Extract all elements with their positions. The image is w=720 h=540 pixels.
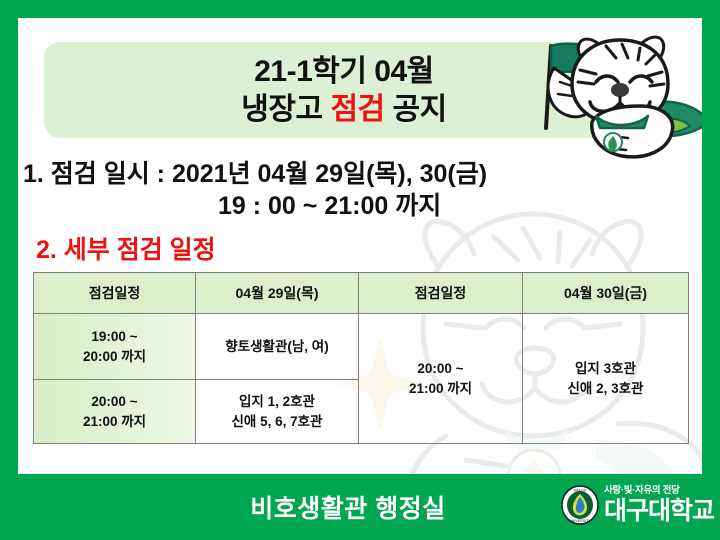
notice-item-1: 1. 점검 일시 : 2021년 04월 29일(목), 30(금) [18, 158, 702, 190]
table-row: 19:00 ~ 20:00 까지 향토생활관(남, 여) 20:00 ~ 21:… [34, 314, 689, 380]
title-line-1: 21-1학기 04월 [254, 53, 434, 91]
notice-item-1-time: 19 : 00 ~ 21:00 까지 [18, 190, 702, 222]
cell-line: 21:00 까지 [37, 412, 192, 432]
cell-line: 19:00 ~ [37, 327, 192, 347]
cell-place-thu-2: 입지 1, 2호관 신애 5, 6, 7호관 [196, 380, 359, 444]
table-header-cell-1: 04월 29일(목) [196, 273, 359, 314]
title-banner: 21-1학기 04월 냉장고 점검 공지 [44, 42, 644, 138]
cell-line: 신애 5, 6, 7호관 [199, 412, 355, 432]
university-emblem-icon: DAEGU UNIVERSITY [560, 485, 600, 525]
cell-line: 입지 1, 2호관 [199, 392, 355, 412]
cell-time-fri-1: 20:00 ~ 21:00 까지 [359, 314, 523, 444]
cell-line: 20:00 ~ [37, 392, 192, 412]
cell-line: 21:00 까지 [362, 379, 519, 399]
cell-place-thu-1: 향토생활관(남, 여) [196, 314, 359, 380]
cell-line: 신애 2, 3호관 [526, 379, 685, 399]
notice-item-2: 2. 세부 점검 일정 [18, 234, 702, 266]
title-prefix: 냉장고 [241, 93, 330, 126]
poster-footer: 비호생활관 행정실 DAEGU UNIVERSITY 사랑·빛·자유의 전당 대… [0, 474, 720, 540]
svg-text:DAEGU: DAEGU [574, 489, 587, 493]
university-brand: DAEGU UNIVERSITY 사랑·빛·자유의 전당 대구대학교 [560, 485, 714, 525]
inspection-schedule-table: 점검일정 04월 29일(목) 점검일정 04월 30일(금) 19:00 ~ … [33, 272, 689, 444]
table-header-row: 점검일정 04월 29일(목) 점검일정 04월 30일(금) [34, 273, 689, 314]
cell-place-fri-1: 입지 3호관 신애 2, 3호관 [523, 314, 689, 444]
university-brand-text: 사랑·빛·자유의 전당 대구대학교 [604, 486, 714, 524]
table-header-cell-3: 04월 30일(금) [523, 273, 689, 314]
svg-text:UNIVERSITY: UNIVERSITY [569, 519, 591, 523]
notice-poster: 21-1학기 04월 냉장고 점검 공지 [0, 0, 720, 540]
cell-line: 20:00 까지 [37, 347, 192, 367]
cell-line: 입지 3호관 [526, 359, 685, 379]
notice-body: 1. 점검 일시 : 2021년 04월 29일(목), 30(금) 19 : … [18, 158, 702, 266]
cell-time-thu-2: 20:00 ~ 21:00 까지 [34, 380, 196, 444]
cell-time-thu-1: 19:00 ~ 20:00 까지 [34, 314, 196, 380]
title-accent-word: 점검 [330, 93, 384, 126]
poster-content-panel: 21-1학기 04월 냉장고 점검 공지 [18, 18, 702, 474]
table-header-cell-0: 점검일정 [34, 273, 196, 314]
cell-line: 향토생활관(남, 여) [199, 337, 355, 357]
cell-line: 20:00 ~ [362, 359, 519, 379]
brand-name: 대구대학교 [604, 499, 714, 524]
table-header-cell-2: 점검일정 [359, 273, 523, 314]
title-line-2: 냉장고 점검 공지 [241, 91, 446, 129]
brand-tagline: 사랑·빛·자유의 전당 [604, 486, 714, 496]
title-suffix: 공지 [385, 93, 447, 126]
